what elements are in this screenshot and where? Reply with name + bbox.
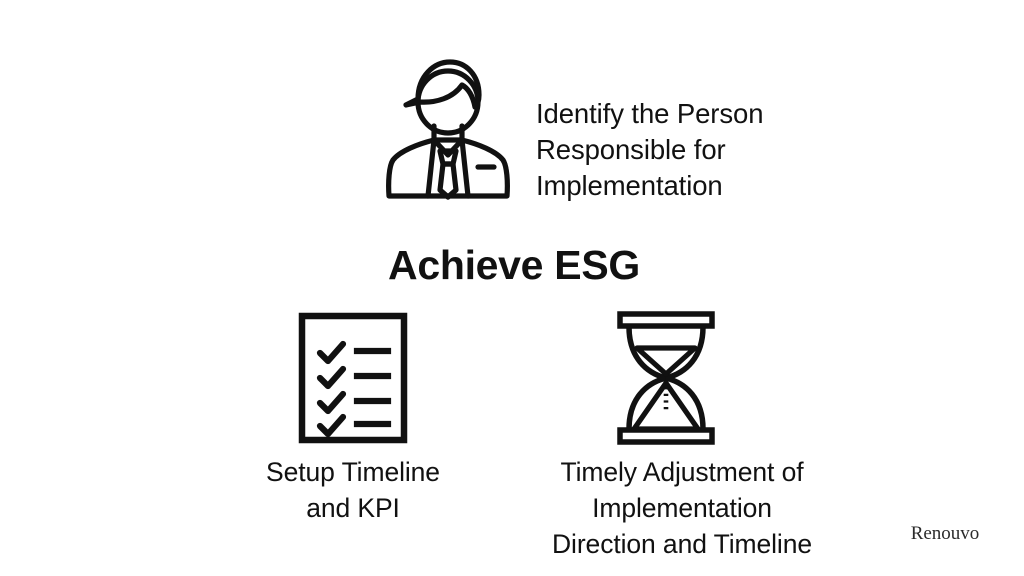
businessman-icon	[384, 54, 512, 202]
slide-canvas: Identify the Person Responsible for Impl…	[0, 0, 1024, 576]
timely-adjustment-label-line-1: Timely Adjustment of	[496, 454, 868, 490]
timely-adjustment-label-line-3: Direction and Timeline	[496, 526, 868, 562]
identify-person-label-line-2: Responsible for	[536, 132, 846, 168]
setup-timeline-label: Setup Timeline and KPI	[203, 454, 503, 526]
timely-adjustment-label: Timely Adjustment of Implementation Dire…	[496, 454, 868, 562]
identify-person-label: Identify the Person Responsible for Impl…	[536, 96, 846, 204]
identify-person-label-line-1: Identify the Person	[536, 96, 846, 132]
timely-adjustment-label-line-2: Implementation	[496, 490, 868, 526]
setup-timeline-label-line-1: Setup Timeline	[203, 454, 503, 490]
setup-timeline-label-line-2: and KPI	[203, 490, 503, 526]
checklist-icon	[298, 312, 408, 444]
hourglass-icon	[616, 311, 716, 445]
identify-person-label-line-3: Implementation	[536, 168, 846, 204]
watermark-renouvo: Renouvo	[880, 522, 1010, 546]
slide-title: Achieve ESG	[312, 240, 716, 290]
